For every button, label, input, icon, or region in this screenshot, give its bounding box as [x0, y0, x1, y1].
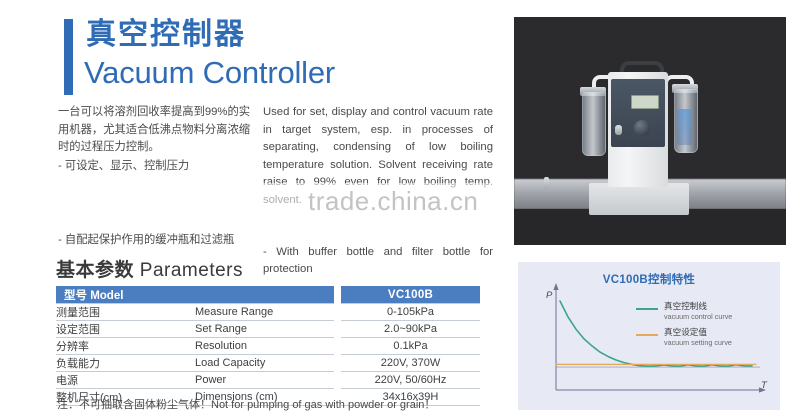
control-characteristic-chart: VC100B控制特性 P T 真空控制线 vacuum control curv… — [518, 262, 780, 410]
description-cn-paragraph: 一台可以将溶剂回收率提高到99%的实用机器，尤其适合低沸点物料分离浓缩时的过程压… — [58, 104, 258, 157]
row-gap — [334, 321, 341, 338]
table-header-model-cell: 型号 Model — [56, 286, 334, 304]
row-label-cn: 设定范围 — [56, 321, 195, 338]
legend-setting-curve-en: vacuum setting curve — [664, 338, 732, 348]
row-gap — [334, 372, 341, 389]
photo-control-knob — [634, 120, 650, 136]
photo-control-panel — [611, 79, 665, 147]
description-cn-bullet-2: - 自配起保护作用的缓冲瓶和过滤瓶 — [58, 232, 258, 250]
table-head: 型号 Model VC100B — [56, 286, 480, 304]
parameters-footnote: 注：不可抽取含固体粉尘气体！Not for pumping of gas wit… — [57, 396, 435, 412]
photo-small-object — [544, 177, 549, 189]
table-header-model-en: Model — [90, 290, 123, 302]
table-row: 测量范围Measure Range0-105kPa — [56, 304, 480, 321]
photo-bottle-liquid — [677, 109, 692, 145]
product-photo — [514, 17, 786, 245]
description-cn-bullet-1: - 可设定、显示、控制压力 — [58, 158, 258, 176]
photo-switch — [615, 125, 622, 135]
parameters-heading-cn: 基本参数 — [56, 260, 134, 281]
table-body: 测量范围Measure Range0-105kPa设定范围Set Range2.… — [56, 304, 480, 406]
table-header-model-value: VC100B — [341, 286, 480, 304]
legend-entry-setting-curve: 真空设定值 vacuum setting curve — [664, 328, 732, 347]
chart-x-axis-label: T — [761, 380, 767, 391]
row-label-cn: 负载能力 — [56, 355, 195, 372]
page-title-en: Vacuum Controller — [84, 53, 335, 93]
chart-y-axis-label: P — [546, 290, 552, 301]
row-value: 0.1kPa — [341, 338, 480, 355]
photo-lcd-display — [631, 95, 659, 109]
parameters-table: 型号 Model VC100B 测量范围Measure Range0-105kP… — [56, 286, 480, 406]
row-label-cn: 测量范围 — [56, 304, 195, 321]
table-row: 负载能力Load Capacity220V, 370W — [56, 355, 480, 372]
photo-buffer-bottle — [582, 92, 606, 156]
chart-y-axis-arrow — [553, 283, 558, 290]
row-label-en: Set Range — [195, 321, 334, 338]
table-header-gap — [334, 286, 341, 304]
legend-setting-curve-cn: 真空设定值 — [664, 328, 732, 338]
row-gap — [334, 338, 341, 355]
legend-entry-control-curve: 真空控制线 vacuum control curve — [664, 302, 732, 321]
page-header: 真空控制器 Vacuum Controller — [64, 16, 494, 96]
row-value: 220V, 370W — [341, 355, 480, 372]
table-row: 设定范围Set Range2.0~90kPa — [56, 321, 480, 338]
row-value: 220V, 50/60Hz — [341, 372, 480, 389]
table-row: 电源Power220V, 50/60Hz — [56, 372, 480, 389]
chart-plot-area — [518, 262, 780, 410]
table-header-row: 型号 Model VC100B — [56, 286, 480, 304]
row-gap — [334, 304, 341, 321]
row-label-en: Resolution — [195, 338, 334, 355]
title-accent-bar — [64, 19, 73, 95]
description-en-bullet-1: - With buffer bottle and filter bottle f… — [263, 244, 493, 279]
parameters-heading-en: Parameters — [140, 260, 243, 281]
parameters-heading: 基本参数 Parameters — [56, 255, 243, 282]
chart-axes — [553, 283, 766, 393]
description-en-paragraph: Used for set, display and control vacuum… — [263, 104, 493, 210]
legend-swatch-setting-curve — [636, 334, 658, 336]
row-label-en: Power — [195, 372, 334, 389]
row-value: 2.0~90kPa — [341, 321, 480, 338]
legend-swatch-control-curve — [636, 308, 658, 310]
row-label-cn: 电源 — [56, 372, 195, 389]
table-header-model-cn: 型号 — [64, 290, 87, 302]
description-english: Used for set, display and control vacuum… — [263, 104, 493, 279]
legend-control-curve-cn: 真空控制线 — [664, 302, 732, 312]
row-label-en: Load Capacity — [195, 355, 334, 372]
page-title-cn: 真空控制器 — [86, 16, 246, 54]
table-row: 分辨率Resolution0.1kPa — [56, 338, 480, 355]
row-value: 0-105kPa — [341, 304, 480, 321]
row-label-en: Measure Range — [195, 304, 334, 321]
legend-control-curve-en: vacuum control curve — [664, 312, 732, 322]
row-label-cn: 分辨率 — [56, 338, 195, 355]
row-gap — [334, 355, 341, 372]
photo-device-base — [589, 183, 689, 215]
description-chinese: 一台可以将溶剂回收率提高到99%的实用机器，尤其适合低沸点物料分离浓缩时的过程压… — [58, 104, 258, 250]
